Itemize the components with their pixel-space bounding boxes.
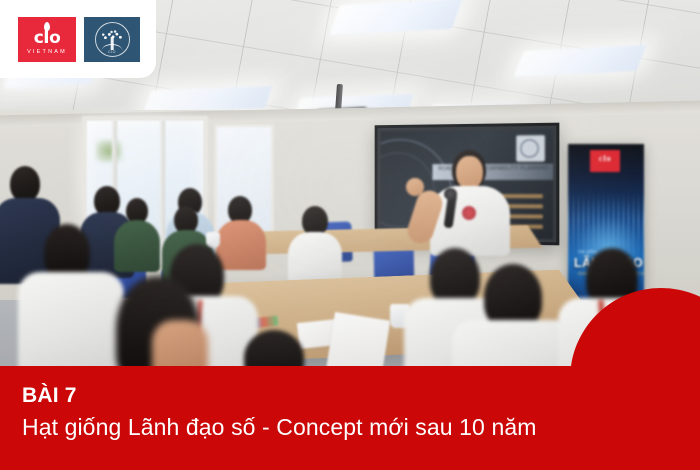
tree-emblem-icon: CIO [95,22,130,57]
logo-badge: cIo VIETNAM CIO [0,0,156,78]
course-lesson-card: ROADMAP FOR IT CAPABILITY PLANNING cIo H… [0,0,700,470]
presenter-hand [406,178,424,196]
cio-vietnam-logo: cIo VIETNAM [18,17,76,62]
cio-country-label: VIETNAM [27,49,67,55]
caption-text-group: BÀI 7 Hạt giống Lãnh đạo số - Concept mớ… [22,385,537,442]
cio-wordmark: cIo [34,30,61,47]
presenter-face [456,156,483,189]
audience-torso [288,232,342,284]
torch-flame-icon [44,22,50,31]
audience-torso [216,220,266,270]
slide-logo-circle-icon [520,139,538,157]
presenter-shirt-logo [462,206,476,220]
rollup-kicker: Hạt giống [578,249,597,254]
caption-banner: BÀI 7 Hạt giống Lãnh đạo số - Concept mớ… [0,366,700,470]
audience-torso [18,272,124,376]
lesson-title: Hạt giống Lãnh đạo số - Concept mới sau … [22,413,537,442]
coffee-mug [206,232,220,248]
rollup-logo-text: cIo [592,154,618,163]
audience-torso [114,220,160,272]
presenter-torso [430,186,510,256]
audience-head [10,166,40,202]
institute-emblem-text: CIO [108,50,116,54]
institute-logo: CIO [84,17,140,62]
ceiling-light-icon [144,86,273,112]
microphone-head-icon [444,188,457,200]
lesson-label: BÀI 7 [22,385,537,407]
